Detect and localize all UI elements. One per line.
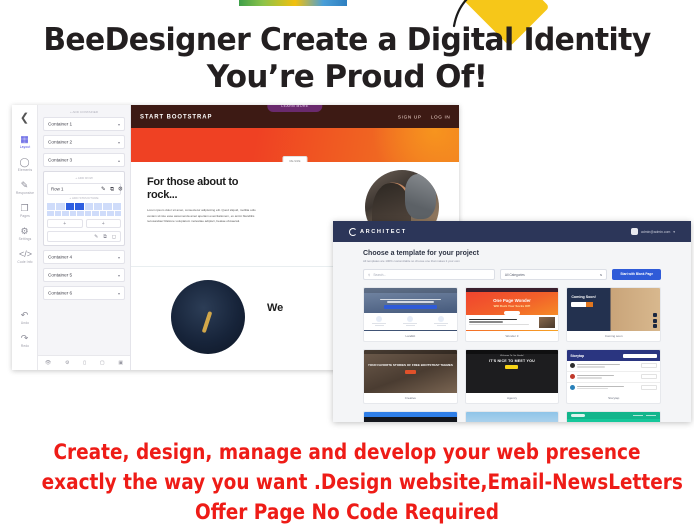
structure-cell[interactable]: [47, 203, 55, 210]
subcopy-line-2: exactly the way you want .Design website…: [42, 467, 653, 497]
row-item-1[interactable]: Row 1 ✎ ⧉ ⚙: [47, 183, 121, 195]
sidebar-label-settings: Settings: [12, 238, 40, 242]
chevron-down-icon: ▾: [673, 230, 675, 234]
chevron-down-icon: ▾: [118, 273, 120, 278]
template-thumb: Storytap: [567, 350, 660, 393]
canvas-navbar: START BOOTSTRAP LEARN MORE SIGN UP LOG I…: [131, 105, 459, 128]
structure-cell[interactable]: [107, 211, 114, 216]
row-tools: ✎ ⧉ ◻: [47, 231, 121, 242]
add-buttons-row: + +: [47, 219, 121, 228]
chevron-down-icon: ▾: [118, 255, 120, 260]
sidebar-label-layout: Layout: [12, 146, 40, 150]
sidebar-label-redo: Redo: [12, 345, 40, 349]
template-thumb-headline: YOUR FAVORITE STORIES OF FREE BOOTSTRAP …: [364, 363, 457, 367]
elements-icon: ◯: [19, 157, 30, 168]
architect-user-menu[interactable]: admin@admin.com ▾: [631, 228, 675, 235]
sidebar-item-code-info[interactable]: </> Code Info: [13, 249, 37, 264]
structure-cell[interactable]: [62, 211, 69, 216]
template-name: Wonder 3: [466, 331, 559, 341]
avatar: [631, 228, 638, 235]
desktop-icon[interactable]: ▯: [83, 360, 86, 366]
category-value: All Categories: [505, 273, 525, 277]
headline-line-2: You’re Proud Of!: [0, 59, 694, 95]
redo-icon: ↷: [19, 333, 30, 344]
social-dot-icon: [653, 313, 657, 317]
structure-cell[interactable]: [100, 211, 107, 216]
template-name: Agency: [466, 393, 559, 403]
container-item-1[interactable]: Container 1 ▾: [43, 117, 125, 131]
template-thumb: One Page Wonder Will Rock Your Socks Off…: [466, 288, 559, 331]
duplicate-icon[interactable]: ⧉: [103, 234, 107, 240]
tablet-icon[interactable]: ▢: [100, 360, 105, 366]
architect-body: Choose a template for your project All t…: [333, 242, 691, 422]
sidebar-item-elements[interactable]: ◯ Elements: [13, 157, 37, 172]
template-card-coming-soon[interactable]: Coming Soon! Coming soon: [566, 287, 661, 342]
template-name: Storytap: [567, 393, 660, 403]
template-thumb: [364, 288, 457, 331]
template-thumb-sub: Will Rock Your Socks Off!: [466, 304, 559, 308]
template-card-creative[interactable]: YOUR FAVORITE STORIES OF FREE BOOTSTRAP …: [363, 349, 458, 404]
structure-cell[interactable]: [115, 211, 122, 216]
template-name: Coming soon: [567, 331, 660, 341]
container-label-1: Container 1: [48, 121, 72, 126]
subcopy-line-1: Create, design, manage and develop your …: [42, 437, 653, 467]
template-thumb: [567, 412, 660, 422]
canvas-nav-links: SIGN UP LOG IN: [397, 114, 450, 119]
pencil-icon: ✎: [19, 180, 30, 191]
structure-cell[interactable]: [56, 203, 64, 210]
chevron-down-icon: ▾: [118, 122, 120, 127]
architect-brand-label: ARCHITECT: [360, 229, 407, 235]
architect-controls: ⚲ Search... All Categories ⇅ Start with …: [363, 269, 661, 280]
promo-subcopy: Create, design, manage and develop your …: [0, 437, 694, 527]
template-thumb: YOUR FAVORITE STORIES OF FREE BOOTSTRAP …: [364, 350, 457, 393]
search-input[interactable]: ⚲ Search...: [363, 269, 495, 280]
template-thumb: [466, 412, 559, 422]
sidebar-item-settings[interactable]: ⚙ Settings: [13, 226, 37, 241]
architect-brand[interactable]: ARCHITECT: [349, 228, 407, 236]
container-label-2: Container 2: [48, 139, 72, 144]
template-thumb-headline: Storytap: [570, 354, 584, 358]
add-container-hint[interactable]: + ADD CONTAINER: [38, 111, 131, 115]
sidebar-item-layout[interactable]: ▦ Layout: [13, 134, 37, 149]
search-icon: ⚲: [368, 273, 370, 277]
editor-structure-panel: + ADD CONTAINER Container 1 ▾ Container …: [38, 105, 131, 370]
start-blank-page-button[interactable]: Start with Blank Page: [612, 269, 661, 280]
share-icon[interactable]: ⚙: [65, 360, 69, 366]
structure-cell[interactable]: [85, 203, 93, 210]
code-icon: </>: [19, 249, 30, 260]
duplicate-icon[interactable]: ⧉: [110, 186, 114, 193]
sidebar-item-redo[interactable]: ↷ Redo: [13, 333, 37, 348]
template-grid: Landkit One Page Wonder Will Rock Your S…: [363, 287, 661, 422]
structure-cell-selected[interactable]: [66, 203, 74, 210]
product-screenshot-composite: ❮ ▦ Layout ◯ Elements ✎ Responsive ❐ Pag…: [0, 95, 694, 435]
social-dot-icon: [653, 324, 657, 328]
template-thumb-sub: Welcome To Our Studio!: [466, 355, 559, 357]
template-thumb: Welcome To Our Studio! IT'S NICE TO MEET…: [466, 350, 559, 393]
structure-cell[interactable]: [103, 203, 111, 210]
template-card-row3-1[interactable]: [363, 411, 458, 422]
sidebar-item-undo[interactable]: ↶ Undo: [13, 310, 37, 325]
rail-bottom-group: ↶ Undo ↷ Redo: [13, 310, 37, 370]
template-card-row3-2[interactable]: [465, 411, 560, 422]
canvas-heading: For those about to rock...: [147, 176, 257, 202]
sidebar-label-code-info: Code Info: [12, 261, 40, 265]
structure-cell[interactable]: [70, 211, 77, 216]
template-card-storytap[interactable]: Storytap Storytap: [566, 349, 661, 404]
container-item-6[interactable]: Container 6 ▾: [43, 286, 125, 300]
row-label-1: Row 1: [51, 186, 64, 191]
search-placeholder: Search...: [373, 273, 386, 277]
add-structure-hint[interactable]: + ADD STRUCTURE: [40, 197, 129, 201]
sidebar-item-responsive[interactable]: ✎ Responsive: [13, 180, 37, 195]
trash-icon[interactable]: ⚙: [118, 186, 123, 193]
add-button-left[interactable]: +: [47, 219, 83, 228]
top-color-sliver: [239, 0, 347, 6]
sidebar-label-responsive: Responsive: [12, 192, 40, 196]
nav-link-signup[interactable]: SIGN UP: [397, 114, 421, 119]
chevron-down-icon: ▾: [118, 291, 120, 296]
row-action-icons: ✎ ⧉ ⚙: [101, 186, 122, 191]
container-3-expanded-body: + ADD ROW Row 1 ✎ ⧉ ⚙ + ADD STRUCTURE: [43, 171, 125, 246]
container-item-4[interactable]: Container 4 ▾: [43, 250, 125, 264]
subcopy-line-3: Offer Page No Code Required: [42, 497, 653, 527]
canvas-brand: START BOOTSTRAP: [140, 113, 212, 120]
chevron-up-icon: ▴: [118, 158, 120, 163]
canvas-circle-photo-2: [171, 280, 245, 354]
chevron-updown-icon: ⇅: [600, 273, 603, 277]
structure-cell[interactable]: [55, 211, 62, 216]
pencil-icon[interactable]: ✎: [101, 186, 106, 193]
sidebar-label-undo: Undo: [12, 322, 40, 326]
chevron-down-icon: ▾: [118, 140, 120, 145]
template-name: Landkit: [364, 331, 457, 341]
add-button-right[interactable]: +: [86, 219, 122, 228]
trash-icon[interactable]: ◻: [112, 234, 116, 240]
structure-cell[interactable]: [92, 211, 99, 216]
canvas-paragraph: Lorem ipsum dolor sit amet, consectetur …: [147, 208, 265, 225]
architect-circle-icon: [349, 228, 357, 236]
canvas-hero-band: RE-SIZE: [131, 128, 459, 162]
template-thumb-headline: One Page Wonder: [466, 298, 559, 303]
container-label-4: Container 4: [48, 254, 72, 259]
pages-icon: ❐: [19, 203, 30, 214]
container-label-6: Container 6: [48, 290, 72, 295]
editor-preview-toolbar: 👁 ⚙ ▯ ▢ ▣: [38, 355, 130, 370]
architect-template-window: ARCHITECT admin@admin.com ▾ Choose a tem…: [333, 221, 691, 422]
template-thumb: [364, 412, 457, 422]
architect-navbar: ARCHITECT admin@admin.com ▾: [333, 221, 691, 242]
container-label-5: Container 5: [48, 272, 72, 277]
structure-cell[interactable]: [47, 211, 54, 216]
layout-icon: ▦: [19, 134, 30, 145]
gear-icon: ⚙: [19, 226, 30, 237]
architect-title: Choose a template for your project: [363, 250, 661, 257]
page-title: BeeDesigner Create a Digital Identity Yo…: [0, 21, 694, 95]
undo-icon: ↶: [19, 310, 30, 321]
back-icon[interactable]: ❮: [20, 111, 29, 124]
eye-icon[interactable]: 👁: [45, 360, 51, 366]
template-card-landkit[interactable]: Landkit: [363, 287, 458, 342]
container-item-3[interactable]: Container 3 ▴: [43, 153, 125, 167]
nav-link-login[interactable]: LOG IN: [430, 114, 450, 119]
structure-cell[interactable]: [77, 211, 84, 216]
template-thumb-headline: Coming Soon!: [571, 295, 660, 299]
structure-cell[interactable]: [85, 211, 92, 216]
canvas-cta-button[interactable]: LEARN MORE: [267, 105, 322, 112]
sidebar-label-elements: Elements: [12, 169, 40, 173]
template-card-row3-3[interactable]: [566, 411, 661, 422]
headline-line-1: BeeDesigner Create a Digital Identity: [14, 21, 680, 59]
structure-cell[interactable]: [113, 203, 121, 210]
structure-cell[interactable]: [94, 203, 102, 210]
template-card-wonder[interactable]: One Page Wonder Will Rock Your Socks Off…: [465, 287, 560, 342]
template-thumb: Coming Soon!: [567, 288, 660, 331]
user-email-label: admin@admin.com: [641, 230, 670, 234]
container-item-5[interactable]: Container 5 ▾: [43, 268, 125, 282]
editor-sidebar-rail: ❮ ▦ Layout ◯ Elements ✎ Responsive ❐ Pag…: [12, 105, 38, 370]
pencil-icon[interactable]: ✎: [94, 234, 98, 240]
canvas-heading-2: We: [267, 302, 283, 314]
template-thumb-headline: IT'S NICE TO MEET YOU: [466, 359, 559, 363]
container-item-2[interactable]: Container 2 ▾: [43, 135, 125, 149]
social-dot-icon: [653, 319, 657, 323]
structure-picker-grid[interactable]: [47, 203, 121, 216]
structure-cell-selected[interactable]: [75, 203, 83, 210]
architect-subtitle: All templates are 100% customizable so c…: [363, 259, 661, 263]
sidebar-label-pages: Pages: [12, 215, 40, 219]
container-label-3: Container 3: [48, 157, 72, 162]
category-select[interactable]: All Categories ⇅: [500, 269, 608, 280]
template-name: Creative: [364, 393, 457, 403]
template-card-agency[interactable]: Welcome To Our Studio! IT'S NICE TO MEET…: [465, 349, 560, 404]
mobile-icon[interactable]: ▣: [118, 360, 123, 366]
sidebar-item-pages[interactable]: ❐ Pages: [13, 203, 37, 218]
add-row-hint[interactable]: + ADD ROW: [40, 177, 129, 181]
